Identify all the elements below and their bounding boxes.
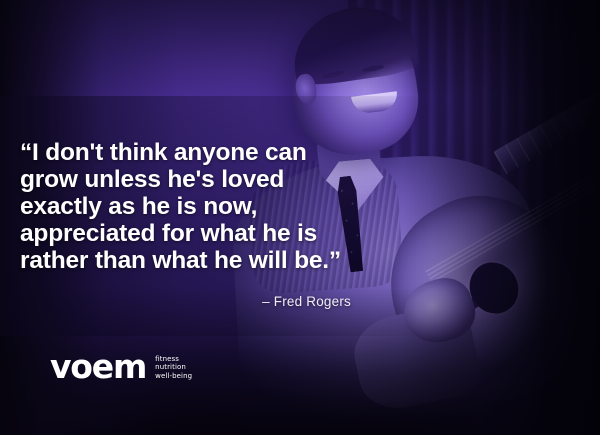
logo-tagline-line-1: fitness xyxy=(155,355,192,363)
quote-line-2: grow unless he's loved xyxy=(20,166,400,193)
logo-tagline: fitness nutrition well-being xyxy=(155,353,192,380)
quote-text: “I don't think anyone can grow unless he… xyxy=(20,139,400,274)
logo-wordmark: voem xyxy=(50,350,146,383)
quote-line-4: appreciated for what he is xyxy=(20,220,400,247)
brand-logo[interactable]: voem fitness nutrition well-being xyxy=(50,350,192,383)
quote-card: “I don't think anyone can grow unless he… xyxy=(0,0,600,435)
quote-line-5: rather than what he will be.” xyxy=(20,247,400,274)
logo-tagline-line-3: well-being xyxy=(155,372,192,380)
quote-attribution: – Fred Rogers xyxy=(20,294,351,309)
card-content: “I don't think anyone can grow unless he… xyxy=(0,0,600,435)
quote-line-1: “I don't think anyone can xyxy=(20,139,400,166)
logo-tagline-line-2: nutrition xyxy=(155,363,192,371)
quote-line-3: exactly as he is now, xyxy=(20,193,400,220)
